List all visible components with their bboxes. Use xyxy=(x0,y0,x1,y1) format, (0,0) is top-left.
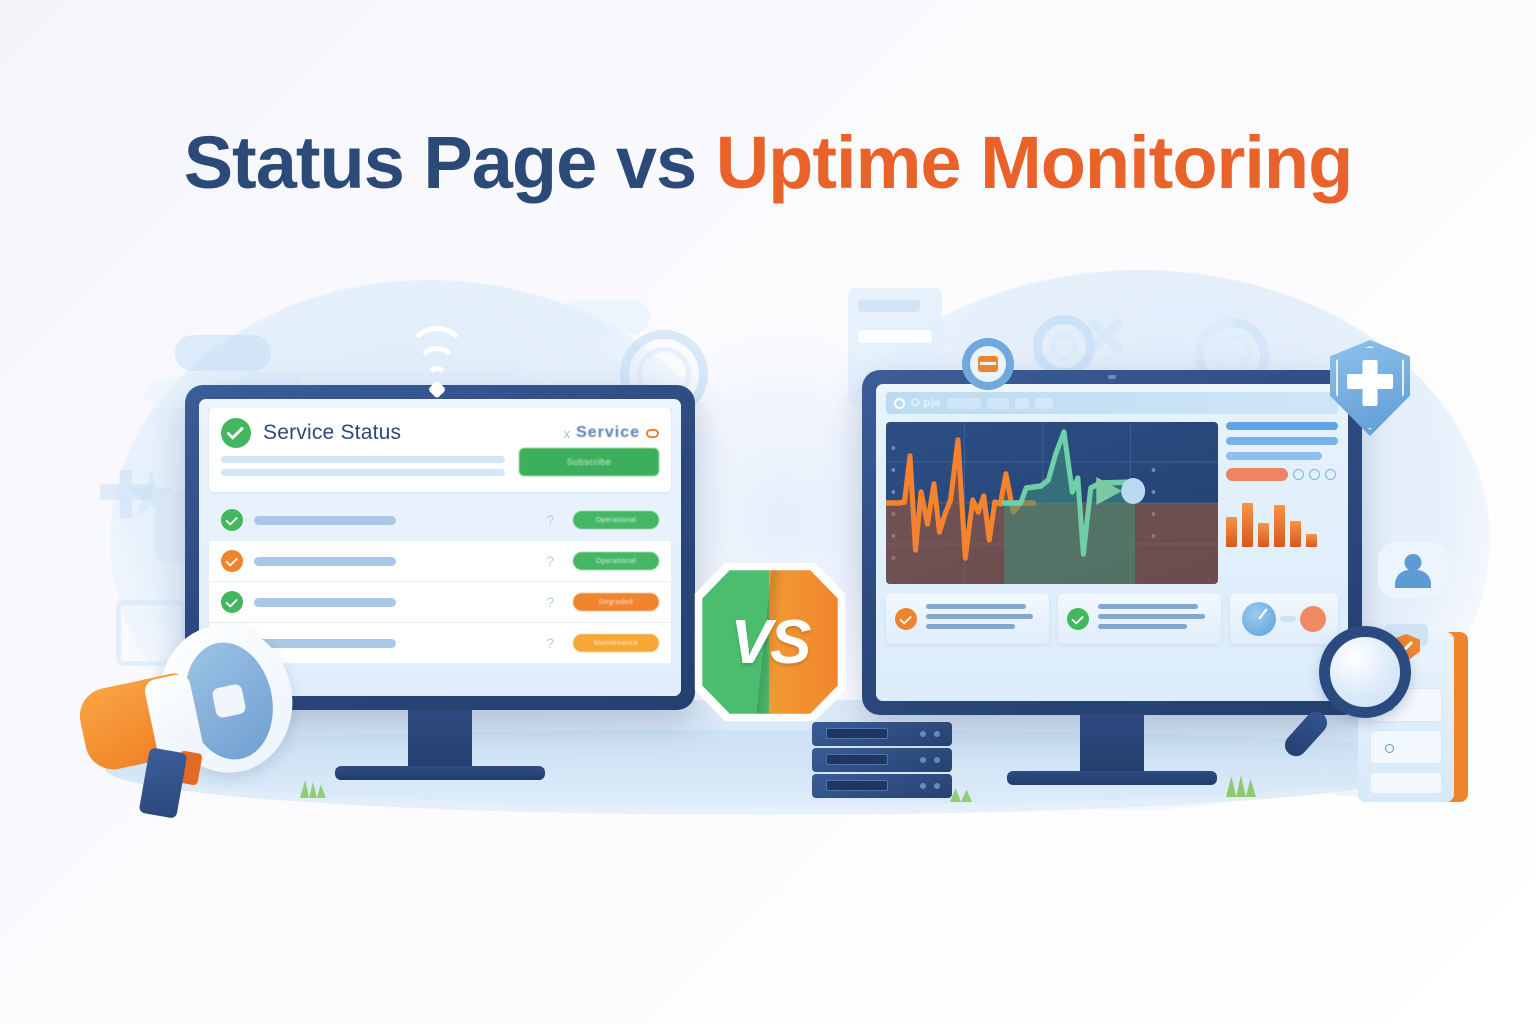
check-circle-green-icon xyxy=(221,509,243,531)
panel-shape xyxy=(1148,300,1234,360)
status-badge: Maintenance xyxy=(573,634,659,652)
globe-icon xyxy=(894,398,905,409)
uptime-percent: ? xyxy=(546,635,554,651)
illustration-canvas: Status Page vs Uptime Monitoring Service… xyxy=(0,0,1536,1024)
gear-icon xyxy=(1033,315,1095,377)
monitor-neck xyxy=(408,710,472,768)
uptime-percent: ? xyxy=(546,594,554,610)
service-status-title: Service Status xyxy=(263,421,401,445)
user-avatar-icon xyxy=(1378,542,1448,598)
document-line xyxy=(858,300,920,312)
summary-card[interactable] xyxy=(1058,594,1221,644)
response-time-chart[interactable] xyxy=(886,422,1218,584)
subscribe-button[interactable]: Subscribe xyxy=(519,448,659,476)
check-circle-green-icon xyxy=(221,418,251,448)
monitor-bezel-right: O p)e xyxy=(862,370,1362,715)
service-status-header-card: Service Status x Service xyxy=(209,408,671,492)
chart-side-panel xyxy=(1226,422,1338,584)
logo-orange-mark-icon xyxy=(646,429,659,438)
certification-badge-icon xyxy=(962,338,1014,390)
megaphone-icon xyxy=(60,620,330,820)
url-text: O p)e xyxy=(911,397,941,409)
page-title-accent: Uptime Monitoring xyxy=(716,121,1353,204)
page-title-prefix: Status Page vs xyxy=(184,121,716,204)
magnifying-glass-icon xyxy=(1293,620,1423,760)
table-row[interactable]: ? Operational xyxy=(209,500,671,541)
mini-bar-chart xyxy=(1226,493,1338,547)
service-name-placeholder xyxy=(254,516,396,525)
table-row[interactable]: ? Degraded xyxy=(209,582,671,623)
logo-text: Service xyxy=(576,424,640,442)
monitor-base xyxy=(1007,771,1217,785)
check-circle-green-icon xyxy=(221,591,243,613)
cloud-shape-icon xyxy=(175,335,271,371)
brand-logo: x Service xyxy=(564,424,659,442)
summary-card[interactable] xyxy=(886,594,1049,644)
status-badge: Operational xyxy=(573,511,659,529)
status-dot-icon xyxy=(1325,469,1336,480)
browser-url-bar[interactable]: O p)e xyxy=(886,392,1338,414)
server-rack-icon xyxy=(812,722,962,800)
status-badge: Degraded xyxy=(573,593,659,611)
uptime-percent: ? xyxy=(546,512,554,528)
monitor-summary-cards xyxy=(876,584,1348,644)
check-circle-orange-icon xyxy=(221,550,243,572)
vs-label: VS xyxy=(690,556,850,728)
header-placeholder-lines xyxy=(221,456,505,482)
check-circle-orange-icon xyxy=(895,608,917,630)
status-dot-icon xyxy=(1309,469,1320,480)
status-badge: Operational xyxy=(573,552,659,570)
table-row[interactable]: ? Operational xyxy=(209,541,671,582)
gauge-icon xyxy=(1242,602,1276,636)
check-circle-green-icon xyxy=(1067,608,1089,630)
document-line xyxy=(858,330,932,343)
alert-indicator xyxy=(1226,468,1288,481)
uptime-monitoring-monitor: O p)e xyxy=(862,370,1362,715)
logo-x-mark: x xyxy=(564,426,571,441)
monitor-base xyxy=(335,766,545,780)
service-name-placeholder xyxy=(254,598,396,607)
status-dot-icon xyxy=(1293,469,1304,480)
cloud-shape-icon xyxy=(560,300,650,334)
service-name-placeholder xyxy=(254,557,396,566)
vs-badge: VS xyxy=(690,556,850,728)
page-title: Status Page vs Uptime Monitoring xyxy=(0,120,1536,205)
uptime-monitoring-screen[interactable]: O p)e xyxy=(876,384,1348,701)
uptime-percent: ? xyxy=(546,553,554,569)
monitor-neck xyxy=(1080,715,1144,773)
shield-cross-icon xyxy=(1330,340,1410,436)
wifi-icon xyxy=(399,344,475,396)
